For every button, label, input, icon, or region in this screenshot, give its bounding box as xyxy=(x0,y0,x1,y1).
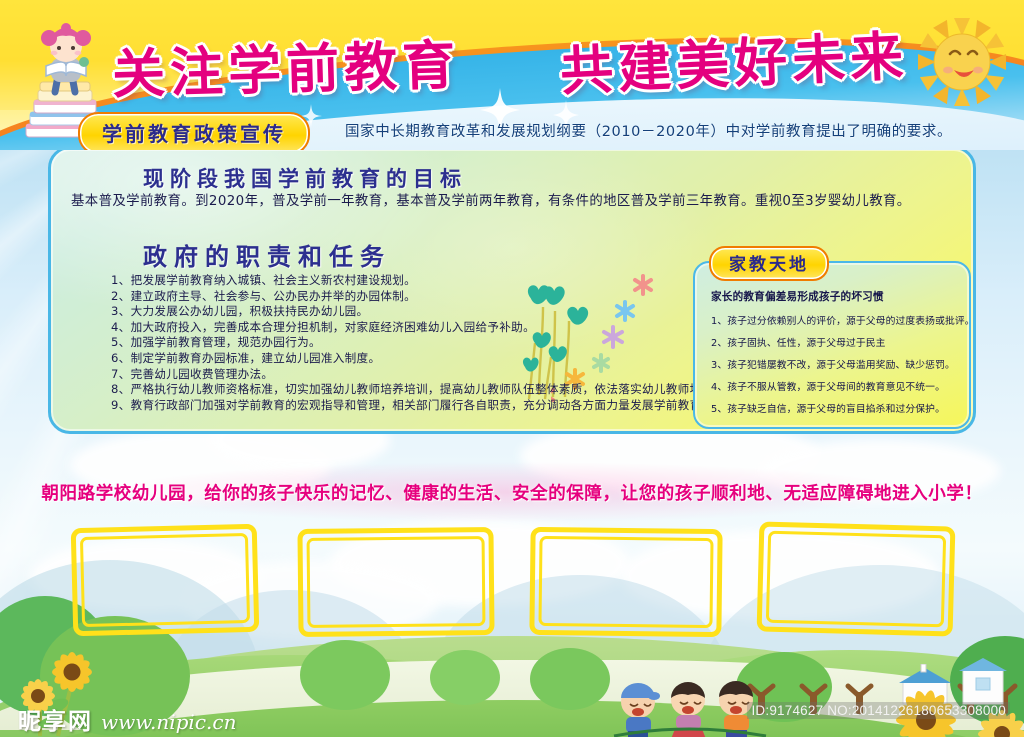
tree-shape xyxy=(430,650,500,705)
list-item: 3、孩子犯错屡教不改，源于父母滥用奖励、缺少惩罚。 xyxy=(711,355,961,377)
bottom-slogan: 朝阳路学校幼儿园，给你的孩子快乐的记忆、健康的生活、安全的保障，让您的孩子顺利地… xyxy=(0,480,1024,505)
smiling-sun-icon xyxy=(912,14,1016,114)
policy-badge-label: 学前教育政策宣传 xyxy=(102,122,286,146)
image-id-tag: ID:9174627 NO:20141226180653308000 xyxy=(747,702,1010,719)
list-item: 1、孩子过分依赖别人的评价，源于父母的过度表扬或批评。 xyxy=(711,311,961,333)
watermark: 昵享网 www.nipic.cn xyxy=(18,702,236,736)
header-title-left: 关注学前教育 xyxy=(111,23,461,109)
main-content-panel: 现阶段我国学前教育的目标 基本普及学前教育。到2020年，普及学前一年教育，基本… xyxy=(48,146,976,434)
policy-badge: 学前教育政策宣传 xyxy=(78,112,310,150)
family-education-badge: 家教天地 xyxy=(709,246,829,281)
family-education-panel: 家教天地 家长的教育偏差易形成孩子的坏习惯 1、孩子过分依赖别人的评价，源于父母… xyxy=(693,261,971,429)
poster-canvas: 朝阳路学校幼儿园，给你的孩子快乐的记忆、健康的生活、安全的保障，让您的孩子顺利地… xyxy=(0,0,1024,737)
list-item: 2、孩子固执、任性，源于父母过于民主 xyxy=(711,333,961,355)
photo-frame[interactable] xyxy=(757,521,956,636)
list-item: 5、孩子缺乏自信，源于父母的盲目掐杀和过分保护。 xyxy=(711,399,961,421)
duty-title: 政府的职责和任务 xyxy=(143,237,391,272)
list-item: 4、孩子不服从管教，源于父母间的教育意见不统一。 xyxy=(711,377,961,399)
photo-frame[interactable] xyxy=(297,527,494,637)
header-subtitle: 国家中长期教育改革和发展规划纲要（2010－2020年）中对学前教育提出了明确的… xyxy=(345,120,952,141)
family-education-badge-label: 家教天地 xyxy=(729,255,809,275)
watermark-logo: 昵享网 xyxy=(18,702,93,736)
poster-header: 关注学前教育 共建美好未来 学前教育政策宣传 国家中长期教育改革和发展规划纲要（… xyxy=(0,0,1024,150)
family-education-heading: 家长的教育偏差易形成孩子的坏习惯 xyxy=(711,289,884,304)
family-education-list: 1、孩子过分依赖别人的评价，源于父母的过度表扬或批评。 2、孩子固执、任性，源于… xyxy=(711,311,961,421)
goal-title: 现阶段我国学前教育的目标 xyxy=(143,163,467,193)
header-title-right: 共建美好未来 xyxy=(558,14,909,106)
tree-shape xyxy=(530,648,610,710)
photo-frame[interactable] xyxy=(529,527,722,637)
tree-shape xyxy=(300,640,390,710)
photo-frame[interactable] xyxy=(71,524,260,637)
goal-body-text: 基本普及学前教育。到2020年，普及学前一年教育，基本普及学前两年教育，有条件的… xyxy=(71,191,961,212)
watermark-url: www.nipic.cn xyxy=(101,710,236,734)
